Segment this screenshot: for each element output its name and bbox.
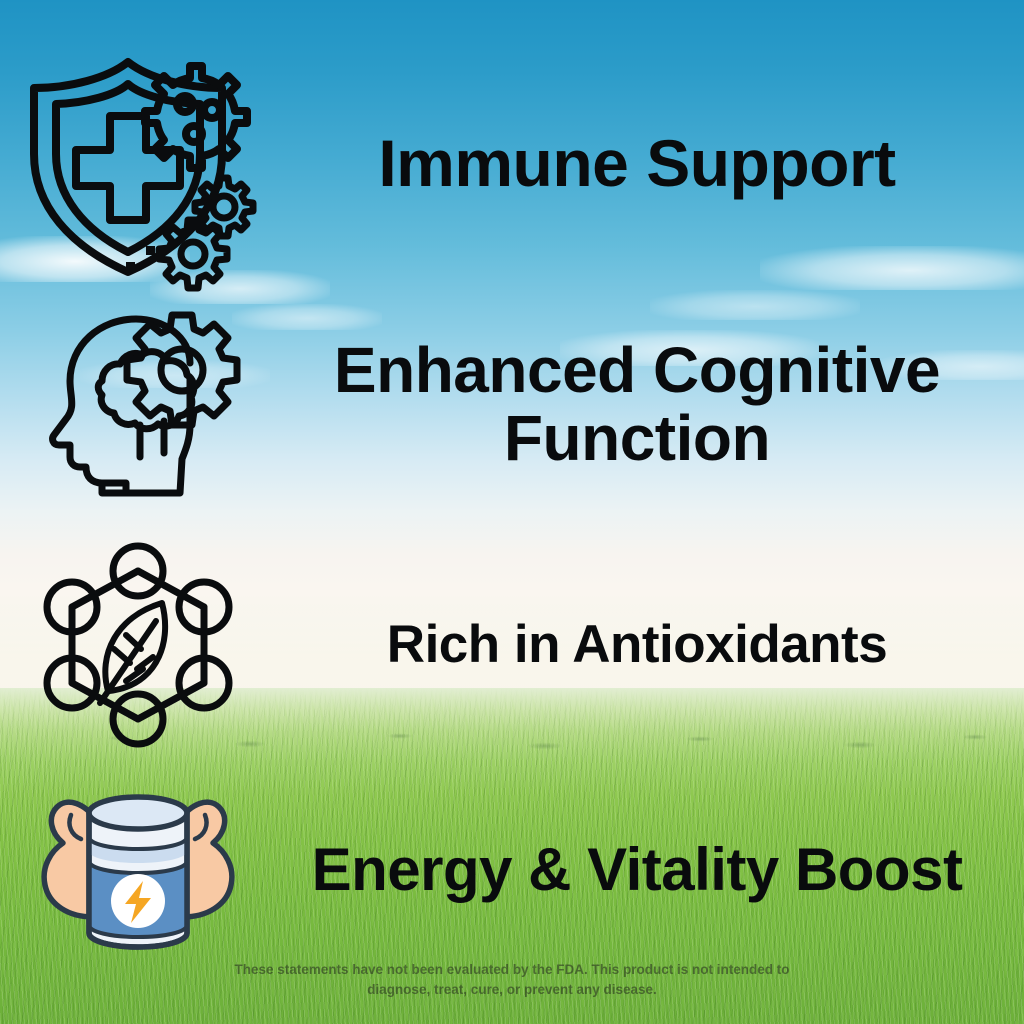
benefit-icon-cell — [0, 50, 276, 278]
shield-virus-gears-icon — [22, 50, 254, 278]
supplement-jar-flexing-arms-icon — [27, 785, 249, 955]
benefit-text-cell: Immune Support — [276, 129, 1024, 199]
benefit-row-antioxidants: Rich in Antioxidants — [0, 540, 1024, 750]
fda-disclaimer-text: These statements have not been evaluated… — [212, 960, 812, 999]
head-brain-gear-icon — [40, 307, 236, 503]
benefit-row-cognitive-function: Enhanced Cognitive Function — [0, 300, 1024, 510]
benefits-poster: Immune Support — [0, 0, 1024, 1024]
benefit-text-cell: Enhanced Cognitive Function — [276, 337, 1024, 473]
benefit-text-cell: Energy & Vitality Boost — [276, 838, 1024, 902]
benefit-title-energy-vitality: Energy & Vitality Boost — [312, 838, 963, 902]
benefit-title-cognitive-function: Enhanced Cognitive Function — [276, 337, 998, 473]
benefit-title-immune-support: Immune Support — [378, 129, 895, 199]
benefit-text-cell: Rich in Antioxidants — [276, 617, 1024, 673]
benefit-icon-cell — [0, 785, 276, 955]
benefit-icon-cell — [0, 545, 276, 745]
benefit-row-immune-support: Immune Support — [0, 74, 1024, 254]
benefit-row-energy-vitality: Energy & Vitality Boost — [0, 775, 1024, 965]
benefit-title-antioxidants: Rich in Antioxidants — [387, 617, 887, 673]
benefit-icon-cell — [0, 307, 276, 503]
molecule-leaf-icon — [38, 545, 238, 745]
